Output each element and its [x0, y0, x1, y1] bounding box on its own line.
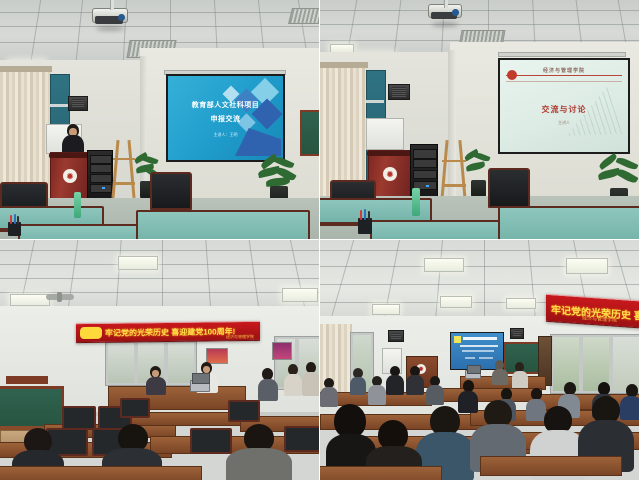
photo-bottom-right: 牢记党的光荣历史 喜迎建党100周年 经济与管理学院 教育部人文社科项目申报交流…	[320, 240, 639, 480]
slide-line	[479, 357, 493, 359]
panelist	[492, 360, 508, 382]
poster	[272, 342, 292, 360]
panelist	[146, 366, 166, 392]
chair	[488, 168, 530, 208]
rack-led	[426, 185, 429, 187]
pen-holder	[358, 218, 372, 234]
attendee	[302, 362, 319, 394]
conference-table	[18, 224, 152, 239]
ceiling-light	[10, 294, 50, 306]
slide-line	[462, 350, 494, 352]
attendee	[320, 378, 338, 404]
ceiling-fan-icon	[57, 292, 62, 302]
ceiling-light	[282, 288, 318, 302]
conference-table	[136, 210, 310, 239]
slide-title-line1: 教育部人文社科项目	[168, 100, 283, 110]
slide-line	[465, 357, 475, 359]
laptop	[190, 380, 210, 392]
chair	[150, 172, 192, 210]
attendee	[350, 368, 366, 392]
panelist	[512, 362, 528, 386]
attendee	[426, 376, 444, 402]
conference-table	[498, 206, 639, 239]
projection-screen: 教育部人文社科项目 申报交流 主讲人：王明	[166, 74, 285, 162]
ceiling-vent	[288, 8, 319, 24]
attendee	[386, 366, 404, 392]
attendee	[368, 376, 386, 402]
attendee-foreground	[226, 424, 292, 480]
chair	[62, 406, 96, 430]
banner-text: 牢记党的光荣历史 喜迎建党100周年!	[105, 326, 235, 339]
desk-row	[0, 466, 202, 480]
projector	[92, 8, 126, 28]
slide-content: 经济与管理学院 交流与讨论 主讲人	[500, 60, 628, 152]
ceiling	[0, 240, 319, 316]
projection-screen: 经济与管理学院 交流与讨论 主讲人	[498, 58, 630, 154]
projector-shadow	[432, 22, 458, 27]
water-bottle	[74, 192, 81, 218]
slide-subtitle: 主讲人：王明	[168, 132, 283, 138]
podium-emblem: ✹	[383, 167, 397, 181]
photo-collage: 教育部人文社科项目 申报交流 主讲人：王明 ✹	[0, 0, 639, 480]
banner-text: 牢记党的光荣历史 喜迎建党100周年	[551, 301, 639, 327]
slide-logo-icon	[454, 336, 461, 343]
rack-led	[102, 187, 105, 189]
photo-top-left: 教育部人文社科项目 申报交流 主讲人：王明 ✹	[0, 0, 319, 239]
photo-top-right: 经济与管理学院 交流与讨论 主讲人 ✹	[320, 0, 639, 239]
desk-row	[320, 466, 442, 480]
whiteboard	[366, 118, 404, 150]
screen-surface: 经济与管理学院 交流与讨论 主讲人	[500, 60, 628, 152]
wall-speaker	[510, 328, 524, 339]
window-blue-panel	[366, 100, 384, 103]
conference-table	[370, 220, 514, 239]
screen-surface: 教育部人文社科项目 申报交流 主讲人：王明	[168, 76, 283, 160]
slide-title-line2: 交流与讨论	[500, 104, 628, 115]
ceiling-light	[440, 296, 472, 308]
slide-title-line1: 经济与管理学院	[500, 67, 628, 74]
slide-header-rule	[506, 75, 622, 76]
podium: ✹	[50, 152, 90, 202]
screen-roller	[498, 52, 626, 57]
photo-bottom-left: 牢记党的光荣历史 喜迎建党100周年! 经济与管理学院	[0, 240, 319, 480]
ceiling-light	[566, 258, 608, 274]
ceiling-light	[506, 298, 536, 309]
slide-header-rule	[506, 81, 622, 82]
window-blue-panel	[50, 104, 68, 107]
banner-subtext: 经济与管理学院	[226, 334, 254, 340]
banner-subtext: 经济与管理学院	[582, 314, 617, 323]
banner-logo-icon	[80, 327, 102, 339]
board-header-strip	[6, 376, 48, 384]
slide-subtitle: 主讲人	[500, 120, 628, 126]
slide-line	[460, 345, 498, 347]
wall-speaker	[68, 96, 88, 111]
slide-content: 教育部人文社科项目 申报交流 主讲人：王明	[168, 76, 283, 160]
ceiling-light	[118, 256, 158, 270]
podium-emblem: ✹	[63, 169, 77, 183]
equipment-rack	[87, 150, 113, 202]
pen-holder	[8, 222, 21, 236]
projector-mount	[110, 0, 114, 10]
desk-row	[480, 456, 622, 476]
projector-shadow	[96, 26, 124, 31]
ceiling-light	[424, 258, 464, 272]
event-banner: 牢记党的光荣历史 喜迎建党100周年! 经济与管理学院	[76, 321, 260, 343]
chair	[228, 400, 260, 422]
attendee	[284, 364, 302, 394]
wall-speaker	[388, 330, 404, 342]
laptop	[465, 370, 481, 379]
attendee	[406, 366, 424, 392]
attendee	[258, 368, 278, 398]
wall-speaker	[388, 84, 410, 100]
ceiling-light	[372, 304, 400, 315]
projector-mount	[444, 0, 448, 8]
chair	[120, 398, 150, 418]
water-bottle	[412, 188, 420, 216]
curtain	[0, 66, 52, 198]
slide-title-bar	[463, 337, 497, 340]
side-board	[300, 110, 319, 156]
slide-title-line2: 申报交流	[168, 114, 283, 124]
